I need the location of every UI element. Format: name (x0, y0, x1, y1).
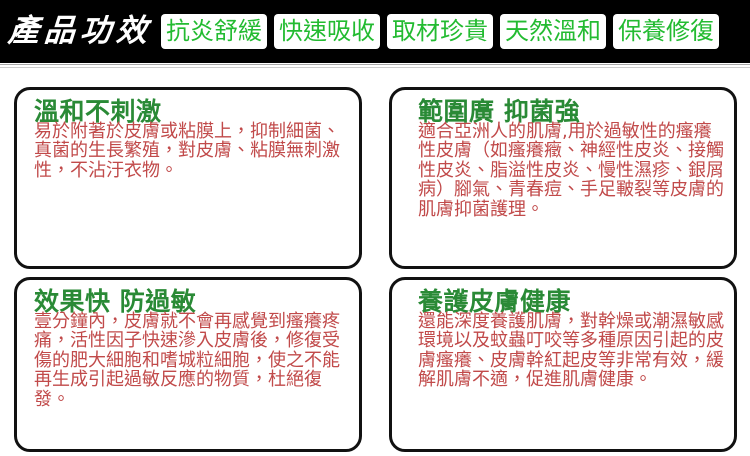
card-cell-4: 養護皮膚健康 還能深度養護肌膚，對幹燥或潮濕敏感環境以及蚊蟲叮咬等多種原因引起的… (375, 273, 750, 456)
feature-card-mild: 溫和不刺激 易於附著於皮膚或粘膜上，抑制細菌、真菌的生長繁殖，對皮膚、粘膜無刺激… (14, 87, 362, 269)
badge-fast-absorption[interactable]: 快速吸收 (274, 14, 380, 49)
feature-card-broad-spectrum: 範圍廣 抑菌強 適合亞洲人的肌膚,用於過敏性的瘙癢性皮膚（如瘙癢癥、神經性皮炎、… (389, 87, 737, 269)
card-cell-1: 溫和不刺激 易於附著於皮膚或粘膜上，抑制細菌、真菌的生長繁殖，對皮膚、粘膜無刺激… (0, 83, 375, 273)
card-body: 壹分鐘內，皮膚就不會再感覺到瘙癢疼痛，活性因子快速滲入皮膚後，修復受傷的肥大細胞… (34, 312, 349, 409)
badge-anti-inflammatory[interactable]: 抗炎舒緩 (161, 14, 267, 49)
feature-card-grid: 溫和不刺激 易於附著於皮膚或粘膜上，抑制細菌、真菌的生長繁殖，對皮膚、粘膜無刺激… (0, 83, 750, 456)
badge-natural-mild[interactable]: 天然溫和 (500, 14, 606, 49)
header-divider (0, 64, 750, 68)
feature-card-skin-health: 養護皮膚健康 還能深度養護肌膚，對幹燥或潮濕敏感環境以及蚊蟲叮咬等多種原因引起的… (389, 277, 737, 452)
badge-precious-material[interactable]: 取材珍貴 (387, 14, 493, 49)
page-title: 產品功效 (7, 16, 162, 47)
feature-badge-row: 抗炎舒緩 快速吸收 取材珍貴 天然溫和 保養修復 (161, 14, 746, 49)
product-efficacy-infographic: 產品功效 抗炎舒緩 快速吸收 取材珍貴 天然溫和 保養修復 溫和不刺激 易於附著… (0, 0, 750, 456)
card-body: 適合亞洲人的肌膚,用於過敏性的瘙癢性皮膚（如瘙癢癥、神經性皮炎、接觸性皮炎、脂溢… (418, 122, 724, 219)
badge-care-repair[interactable]: 保養修復 (613, 14, 719, 49)
card-cell-2: 範圍廣 抑菌強 適合亞洲人的肌膚,用於過敏性的瘙癢性皮膚（如瘙癢癥、神經性皮炎、… (375, 83, 750, 273)
feature-card-fast-effect: 效果快 防過敏 壹分鐘內，皮膚就不會再感覺到瘙癢疼痛，活性因子快速滲入皮膚後，修… (14, 277, 362, 452)
card-body: 還能深度養護肌膚，對幹燥或潮濕敏感環境以及蚊蟲叮咬等多種原因引起的皮膚瘙癢、皮膚… (418, 312, 724, 390)
header-bar: 產品功效 抗炎舒緩 快速吸收 取材珍貴 天然溫和 保養修復 (0, 0, 750, 63)
card-cell-3: 效果快 防過敏 壹分鐘內，皮膚就不會再感覺到瘙癢疼痛，活性因子快速滲入皮膚後，修… (0, 273, 375, 456)
card-body: 易於附著於皮膚或粘膜上，抑制細菌、真菌的生長繁殖，對皮膚、粘膜無刺激性，不沾汙衣… (34, 122, 349, 180)
